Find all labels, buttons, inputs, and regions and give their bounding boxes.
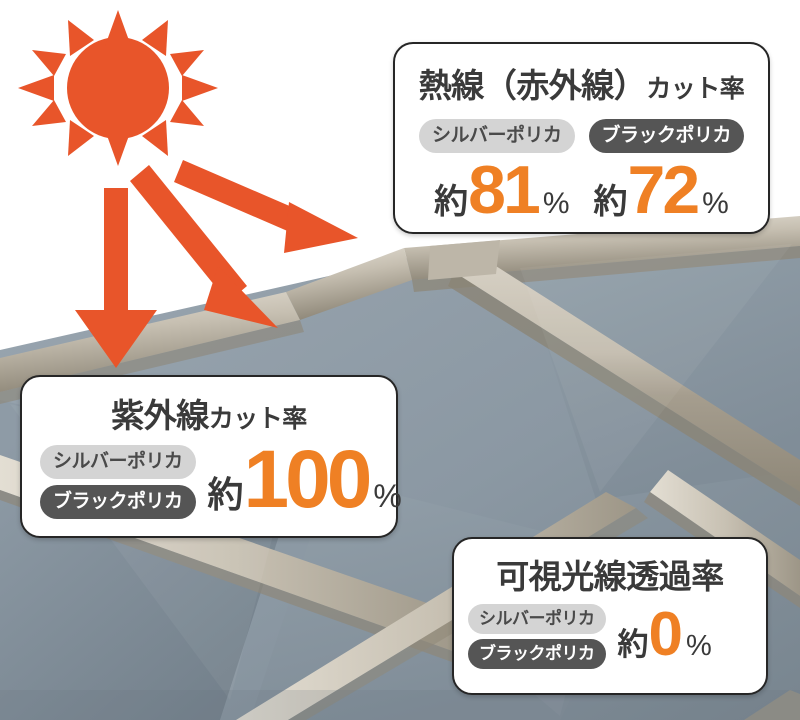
card-uv-title: 紫外線カット率: [22, 389, 396, 437]
percent-sign: %: [543, 187, 570, 221]
value-heat-black: 約 72 %: [594, 163, 729, 223]
card-uv-row: シルバーポリカ ブラックポリカ 約 100 %: [22, 445, 396, 519]
badge-black-polycarbonate: ブラックポリカ: [589, 119, 745, 153]
value-number: 100: [244, 446, 369, 513]
approx-label: 約: [434, 174, 467, 223]
percent-sign: %: [373, 478, 401, 515]
card-heat-title-sub: カット率: [646, 75, 744, 103]
card-visible-title: 可視光線透過率: [454, 550, 766, 598]
value-visible-both: 約 0 %: [618, 610, 712, 664]
infographic-root: 熱線（赤外線）カット率 シルバーポリカ ブラックポリカ 約 81 % 約 72 …: [0, 0, 800, 720]
arrow-down-icon: [75, 188, 157, 368]
badge-silver-polycarbonate: シルバーポリカ: [40, 445, 196, 479]
badge-black-polycarbonate: ブラックポリカ: [40, 485, 196, 519]
card-heat-badges: シルバーポリカ ブラックポリカ: [395, 119, 768, 153]
card-visible-title-main: 可視光線透過率: [496, 558, 724, 595]
percent-sign: %: [702, 187, 729, 221]
badge-silver-polycarbonate: シルバーポリカ: [468, 604, 606, 634]
card-ultraviolet: 紫外線カット率 シルバーポリカ ブラックポリカ 約 100 %: [20, 375, 398, 538]
sun-icon: [18, 10, 218, 166]
card-uv-badges: シルバーポリカ ブラックポリカ: [40, 445, 196, 519]
card-heat-infrared: 熱線（赤外線）カット率 シルバーポリカ ブラックポリカ 約 81 % 約 72 …: [393, 42, 770, 234]
card-visible-light: 可視光線透過率 シルバーポリカ ブラックポリカ 約 0 %: [452, 537, 768, 695]
badge-silver-polycarbonate: シルバーポリカ: [419, 119, 575, 153]
value-heat-silver: 約 81 %: [434, 163, 569, 223]
card-uv-title-sub: カット率: [209, 405, 307, 433]
card-visible-badges: シルバーポリカ ブラックポリカ: [468, 604, 606, 669]
value-number: 81: [468, 163, 538, 219]
value-uv-both: 約 100 %: [208, 446, 402, 518]
card-heat-title-main: 熱線（赤外線）: [419, 67, 647, 104]
value-number: 72: [628, 163, 698, 219]
value-number: 0: [649, 610, 681, 661]
approx-label: 約: [208, 466, 243, 518]
card-heat-values: 約 81 % 約 72 %: [395, 163, 768, 223]
sun-and-rays-graphic: [18, 10, 388, 380]
card-heat-title: 熱線（赤外線）カット率: [395, 59, 768, 107]
percent-sign: %: [686, 630, 712, 663]
card-uv-title-main: 紫外線: [111, 397, 209, 434]
card-visible-row: シルバーポリカ ブラックポリカ 約 0 %: [454, 604, 766, 669]
approx-label: 約: [594, 174, 627, 223]
approx-label: 約: [618, 619, 648, 664]
badge-black-polycarbonate: ブラックポリカ: [468, 639, 606, 669]
